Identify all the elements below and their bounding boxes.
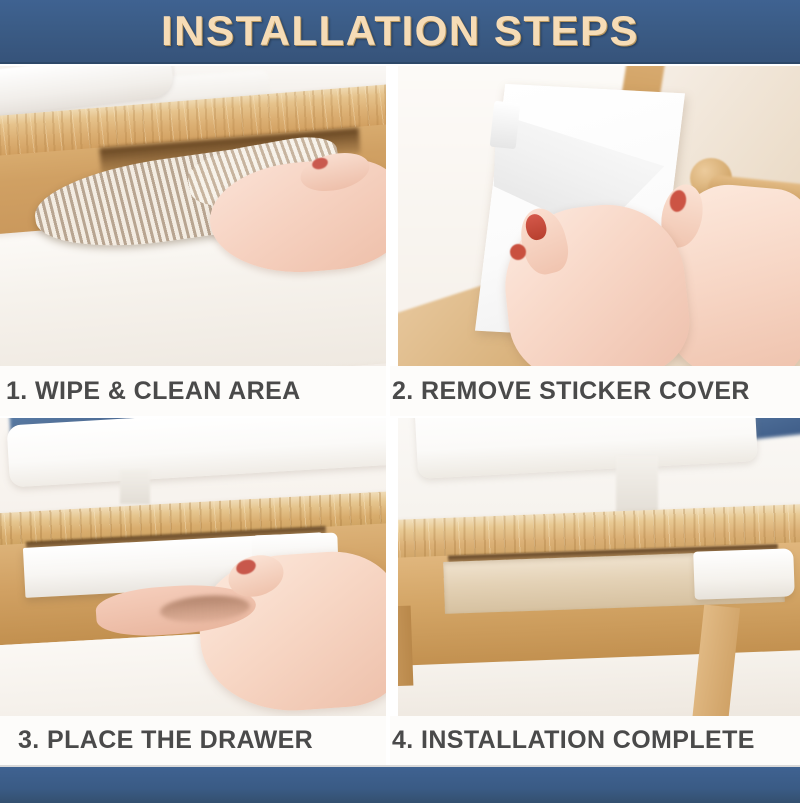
footer-banner	[0, 765, 800, 803]
step-2-caption-bar: 2. REMOVE STICKER COVER	[390, 366, 800, 416]
step-4-panel	[398, 418, 800, 716]
step-3-panel	[0, 418, 386, 716]
step-3-caption: 3. PLACE THE DRAWER	[18, 728, 313, 753]
photo-wipe-clean-area	[0, 66, 386, 366]
header-banner: INSTALLATION STEPS	[0, 0, 800, 64]
step-1-panel	[0, 66, 386, 366]
left-thumb-nail	[510, 244, 526, 260]
page-title: INSTALLATION STEPS	[161, 10, 639, 52]
photo-installation-complete	[398, 418, 800, 716]
step-4-caption: 4. INSTALLATION COMPLETE	[392, 728, 755, 753]
photo-remove-sticker-cover	[398, 66, 800, 366]
drawer-end-cap	[693, 548, 795, 599]
step-1-caption: 1. WIPE & CLEAN AREA	[6, 379, 301, 404]
monitor-stand	[616, 456, 658, 512]
step-3-caption-bar: 3. PLACE THE DRAWER	[0, 716, 386, 765]
step-1-caption-bar: 1. WIPE & CLEAN AREA	[0, 366, 386, 416]
photo-place-the-drawer	[0, 418, 386, 716]
step-2-caption: 2. REMOVE STICKER COVER	[392, 379, 750, 404]
step-2-panel	[398, 66, 800, 366]
monitor-stand	[120, 470, 150, 504]
installation-steps-infographic: INSTALLATION STEPS 1. WIPE & CLEAN AREA	[0, 0, 800, 803]
sticker-corner-fold	[490, 101, 521, 149]
step-4-caption-bar: 4. INSTALLATION COMPLETE	[390, 716, 800, 765]
